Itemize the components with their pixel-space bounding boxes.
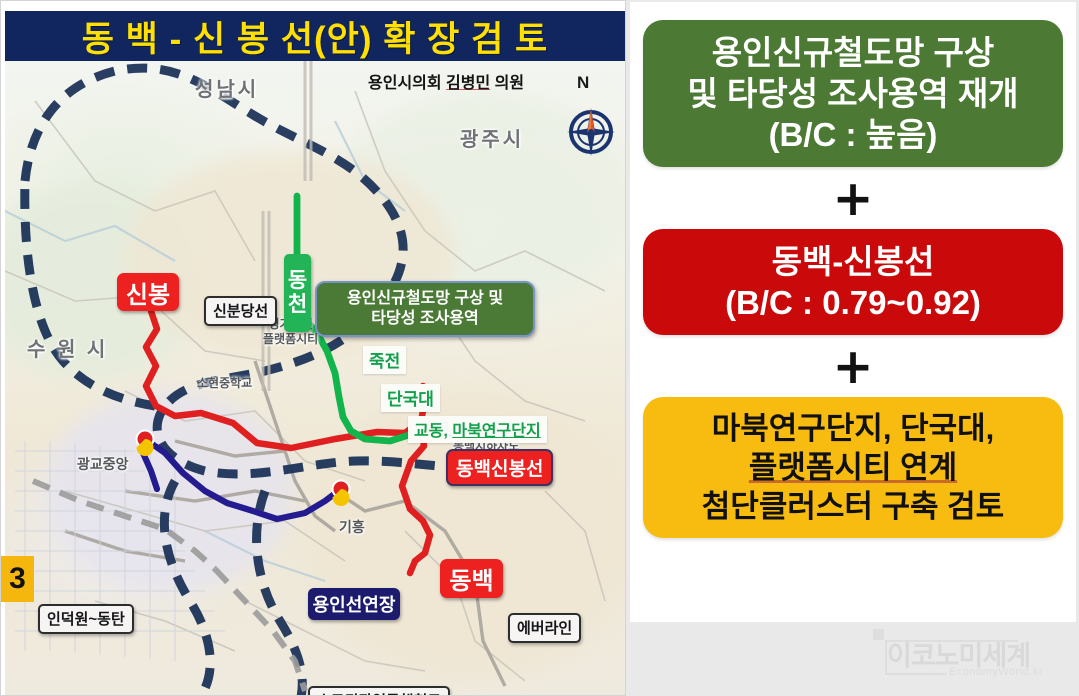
plus-icon: + (832, 342, 873, 391)
station-label-dankook-univ[interactable]: 단국대 (381, 384, 440, 412)
summary-card-stack: 용인신규철도망 구상 및 타당성 조사용역 재개 (B/C : 높음) + 동백… (630, 2, 1076, 622)
station-label-jukjeon[interactable]: 죽전 (363, 346, 406, 374)
dongcheon-char1: 동 (288, 269, 307, 293)
compass-north-label: N (577, 73, 589, 93)
credit-name: 김병민 (446, 75, 490, 92)
green-callout-line2: 타당성 조사용역 (326, 309, 524, 329)
amber-card-line3: 첨단클러스터 구축 검토 (702, 487, 1004, 526)
station-pill-yonginline-extension[interactable]: 용인선연장 (308, 588, 400, 620)
card-dongbaek-sinbong-line[interactable]: 동백-신봉선 (B/C : 0.79~0.92) (643, 229, 1063, 335)
page-title: 동 백 - 신 봉 선(안) 확 장 검 토 (82, 11, 548, 62)
station-pill-sinbong[interactable]: 신봉 (117, 273, 179, 311)
station-pill-dongcheon[interactable]: 동 천 (284, 254, 311, 332)
green-card-line3: (B/C : 높음) (687, 114, 1018, 155)
credit-suffix: 의원 (490, 75, 524, 92)
gyodong-text: 교동, (414, 423, 452, 440)
region-label-seongnam: 성남시 (195, 73, 259, 102)
callout-everline[interactable]: 에버라인 (508, 613, 581, 643)
credit-prefix: 용인시의회 (368, 75, 446, 92)
dongcheon-char2: 천 (288, 293, 307, 317)
mabuk-research-complex-text: 마북연구단지 (452, 423, 540, 440)
slide-root: 성남시 광주시 용 인 시 수 원 시 소현중학교 동백지하차도 광교중앙 기흥… (0, 0, 1079, 696)
station-pill-dongbaek[interactable]: 동백 (440, 559, 503, 598)
platform-city-line2: 플랫폼시티 (263, 332, 318, 347)
red-card-line2: (B/C : 0.79~0.92) (725, 282, 981, 323)
callout-dongbaek-sinbong-line[interactable]: 동백신봉선 (446, 449, 553, 486)
connector-plus-1: + (832, 167, 873, 229)
green-card-line1: 용인신규철도망 구상 (687, 32, 1018, 73)
card-new-rail-network-study[interactable]: 용인신규철도망 구상 및 타당성 조사용역 재개 (B/C : 높음) (643, 20, 1063, 167)
red-card-line1: 동백-신봉선 (725, 241, 981, 282)
watermark-square-icon (873, 629, 884, 640)
card-advanced-cluster-review[interactable]: 마북연구단지, 단국대, 플랫폼시티 연계 첨단클러스터 구축 검토 (643, 397, 1063, 538)
green-callout-line1: 용인신규철도망 구상 및 (326, 289, 524, 309)
presenter-credit: 용인시의회 김병민 의원 (368, 69, 524, 93)
watermark-rule-bottom (885, 673, 947, 675)
connector-plus-2: + (832, 335, 873, 397)
map-canvas: 성남시 광주시 용 인 시 수 원 시 소현중학교 동백지하차도 광교중앙 기흥… (5, 61, 625, 696)
place-label-giheung: 기흥 (339, 517, 365, 537)
presentation-slide: 성남시 광주시 용 인 시 수 원 시 소현중학교 동백지하차도 광교중앙 기흥… (0, 0, 626, 696)
callout-gtx-metropolitan-express[interactable]: 수도권광역급행철도 (308, 686, 450, 696)
place-label-sohyeon-middle-school: 소현중학교 (197, 374, 252, 391)
amber-card-line1: 마북연구단지, 단국대, (702, 409, 1004, 448)
place-label-gwanggyo-jungang: 광교중앙 (77, 454, 129, 474)
plus-icon: + (832, 174, 873, 223)
compass-rose-icon (565, 106, 617, 158)
amber-card-line2: 플랫폼시티 연계 (702, 448, 1004, 487)
watermark-logo: 이코노미세계 EconomyWorld.kr (873, 628, 1058, 686)
slide-title-bar: 동 백 - 신 봉 선(안) 확 장 검 토 (5, 11, 625, 61)
callout-indeogwon-dongtan[interactable]: 인덕원~동탄 (38, 604, 134, 634)
page-number-badge: 3 (1, 556, 34, 602)
region-label-suwon: 수 원 시 (27, 333, 108, 362)
callout-sinbundang-line[interactable]: 신분당선 (204, 296, 277, 326)
green-card-line2: 및 타당성 조사용역 재개 (687, 73, 1018, 114)
station-label-gyodong-mabuk[interactable]: 교동, 마북연구단지 (408, 416, 547, 443)
region-label-gwangju: 광주시 (460, 123, 524, 152)
callout-new-rail-network-study[interactable]: 용인신규철도망 구상 및 타당성 조사용역 (315, 281, 535, 337)
right-panel: 용인신규철도망 구상 및 타당성 조사용역 재개 (B/C : 높음) + 동백… (627, 0, 1079, 696)
watermark-subtitle: EconomyWorld.kr (949, 666, 1043, 678)
